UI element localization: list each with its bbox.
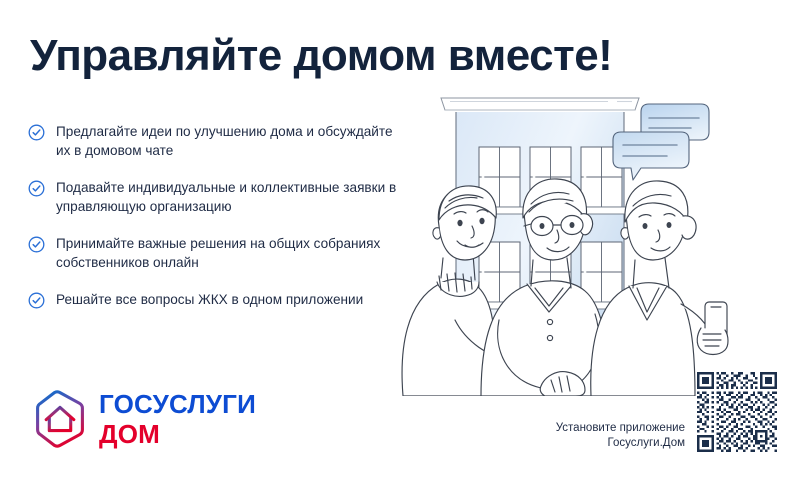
- qr-code[interactable]: [697, 372, 777, 452]
- page-title: Управляйте домом вместе!: [30, 30, 730, 82]
- list-item: Принимайте важные решения на общих собра…: [28, 234, 408, 272]
- promo-banner: Управляйте домом вместе! Предлагайте иде…: [0, 0, 800, 480]
- check-circle-icon: [28, 236, 45, 253]
- install-app-caption: Установите приложение Госуслуги.Дом: [500, 421, 685, 451]
- list-item: Подавайте индивидуальные и коллективные …: [28, 178, 408, 216]
- logo-line-dom: Дом: [99, 421, 256, 447]
- logo-line-gosuslugi: Госуслуги: [99, 391, 256, 417]
- list-item-label: Решайте все вопросы ЖКХ в одном приложен…: [56, 290, 363, 309]
- apartment-building-with-three-residents-illustration: [395, 88, 735, 398]
- install-caption-line-2: Госуслуги.Дом: [500, 436, 685, 451]
- benefits-list: Предлагайте идеи по улучшению дома и обс…: [28, 122, 408, 309]
- list-item-label: Предлагайте идеи по улучшению дома и обс…: [56, 122, 408, 160]
- check-circle-icon: [28, 124, 45, 141]
- gosuslugi-dom-hexagon-house-icon: [30, 389, 90, 449]
- chat-bubbles: [613, 104, 709, 180]
- logo-wordmark: Госуслуги Дом: [99, 391, 256, 447]
- list-item-label: Подавайте индивидуальные и коллективные …: [56, 178, 408, 216]
- check-circle-icon: [28, 180, 45, 197]
- gosuslugi-dom-logo: Госуслуги Дом: [30, 389, 256, 449]
- install-caption-line-1: Установите приложение: [500, 421, 685, 436]
- list-item-label: Принимайте важные решения на общих собра…: [56, 234, 408, 272]
- list-item: Предлагайте идеи по улучшению дома и обс…: [28, 122, 408, 160]
- list-item: Решайте все вопросы ЖКХ в одном приложен…: [28, 290, 408, 309]
- check-circle-icon: [28, 292, 45, 309]
